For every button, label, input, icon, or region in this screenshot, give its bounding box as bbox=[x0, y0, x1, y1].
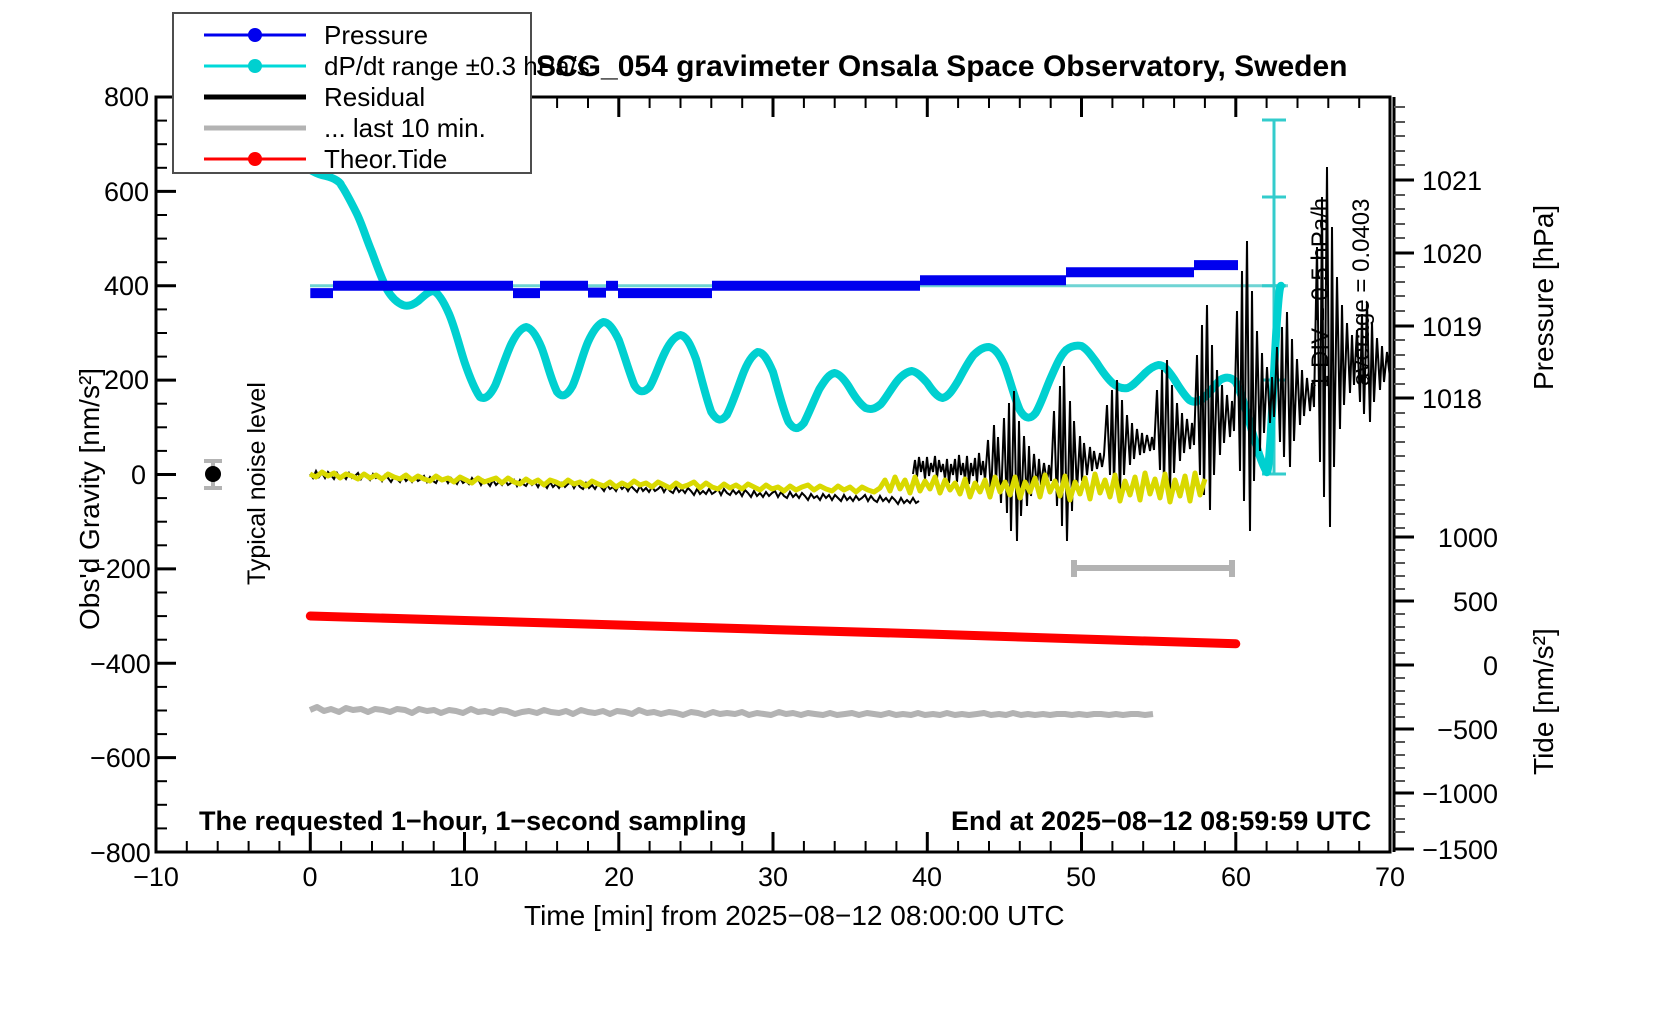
series-pressure bbox=[310, 265, 1238, 293]
legend-label-dpdt: dP/dt range ±0.3 hPa/s bbox=[324, 51, 590, 82]
right-tide-axis-label: Tide [nm/s²] bbox=[1528, 628, 1560, 775]
legend-item-theortide[interactable]: Theor.Tide bbox=[174, 144, 530, 174]
legend-label-theortide: Theor.Tide bbox=[324, 144, 447, 175]
right-tide-tick-0: 0 bbox=[1422, 651, 1498, 682]
legend-swatch-theortide bbox=[200, 144, 310, 174]
bottom-tick-50: 50 bbox=[1051, 862, 1111, 893]
gravimeter-plot: SCG_054 gravimeter Onsala Space Observat… bbox=[0, 0, 1676, 1020]
left-tick-0: 0 bbox=[104, 460, 146, 491]
right-tide-tick-500: 500 bbox=[1422, 587, 1498, 618]
legend-label-pressure: Pressure bbox=[324, 20, 428, 51]
right-pressure-tick-1019: 1019 bbox=[1422, 312, 1482, 343]
legend-item-pressure[interactable]: Pressure bbox=[174, 20, 530, 50]
div-scale-annotation: 1 DIV = 0.5 hPa/h bbox=[1307, 198, 1335, 388]
bottom-tick-70: 70 bbox=[1360, 862, 1420, 893]
bottom-tick-0: 0 bbox=[280, 862, 340, 893]
right-pressure-tick-1020: 1020 bbox=[1422, 239, 1482, 270]
right-tide-tick-m500: −500 bbox=[1422, 715, 1498, 746]
page-title: SCG_054 gravimeter Onsala Space Observat… bbox=[536, 50, 1348, 84]
right-axis-minor-ticks bbox=[1394, 107, 1405, 832]
average-annotation: average = 0.0403 bbox=[1348, 199, 1376, 387]
legend-label-residual: Residual bbox=[324, 82, 425, 113]
series-theor-tide bbox=[310, 616, 1236, 644]
left-tick-200: 200 bbox=[104, 365, 146, 396]
left-tick-400: 400 bbox=[104, 271, 146, 302]
right-pressure-axis-label: Pressure [hPa] bbox=[1528, 205, 1560, 390]
bottom-tick-m10: −10 bbox=[126, 862, 186, 893]
left-axis-ticks bbox=[156, 97, 176, 852]
right-tide-tick-m1500: −1500 bbox=[1412, 835, 1498, 866]
bottom-tick-30: 30 bbox=[743, 862, 803, 893]
legend-item-last10[interactable]: ... last 10 min. bbox=[174, 113, 530, 143]
typical-noise-marker bbox=[204, 461, 222, 488]
typical-noise-level-label: Typical noise level bbox=[243, 382, 272, 585]
legend-item-residual[interactable]: Residual bbox=[174, 82, 530, 112]
left-tick-800: 800 bbox=[104, 82, 146, 113]
sampling-note: The requested 1−hour, 1−second sampling bbox=[199, 806, 747, 837]
bottom-tick-60: 60 bbox=[1206, 862, 1266, 893]
right-tide-tick-m1000: −1000 bbox=[1412, 779, 1498, 810]
right-tide-tick-1000: 1000 bbox=[1422, 523, 1498, 554]
bottom-axis-label: Time [min] from 2025−08−12 08:00:00 UTC bbox=[524, 900, 1065, 932]
legend-swatch-last10 bbox=[200, 113, 310, 143]
legend-swatch-pressure bbox=[200, 20, 310, 50]
left-tick-m600: −600 bbox=[90, 743, 146, 774]
legend: Pressure dP/dt range ±0.3 hPa/s Residual… bbox=[172, 12, 532, 174]
left-axis-label: Obs'd Gravity [nm/s²] bbox=[74, 368, 106, 630]
legend-swatch-dpdt bbox=[200, 51, 310, 81]
bottom-tick-40: 40 bbox=[897, 862, 957, 893]
bottom-tick-10: 10 bbox=[434, 862, 494, 893]
end-note: End at 2025−08−12 08:59:59 UTC bbox=[951, 806, 1371, 837]
legend-item-dpdt[interactable]: dP/dt range ±0.3 hPa/s bbox=[174, 51, 530, 81]
legend-label-last10: ... last 10 min. bbox=[324, 113, 486, 144]
right-pressure-tick-1021: 1021 bbox=[1422, 166, 1482, 197]
series-dpdt bbox=[310, 170, 1281, 472]
bottom-tick-20: 20 bbox=[589, 862, 649, 893]
left-tick-600: 600 bbox=[104, 177, 146, 208]
legend-swatch-residual bbox=[200, 82, 310, 112]
left-tick-m400: −400 bbox=[90, 649, 146, 680]
right-pressure-tick-1018: 1018 bbox=[1422, 384, 1482, 415]
